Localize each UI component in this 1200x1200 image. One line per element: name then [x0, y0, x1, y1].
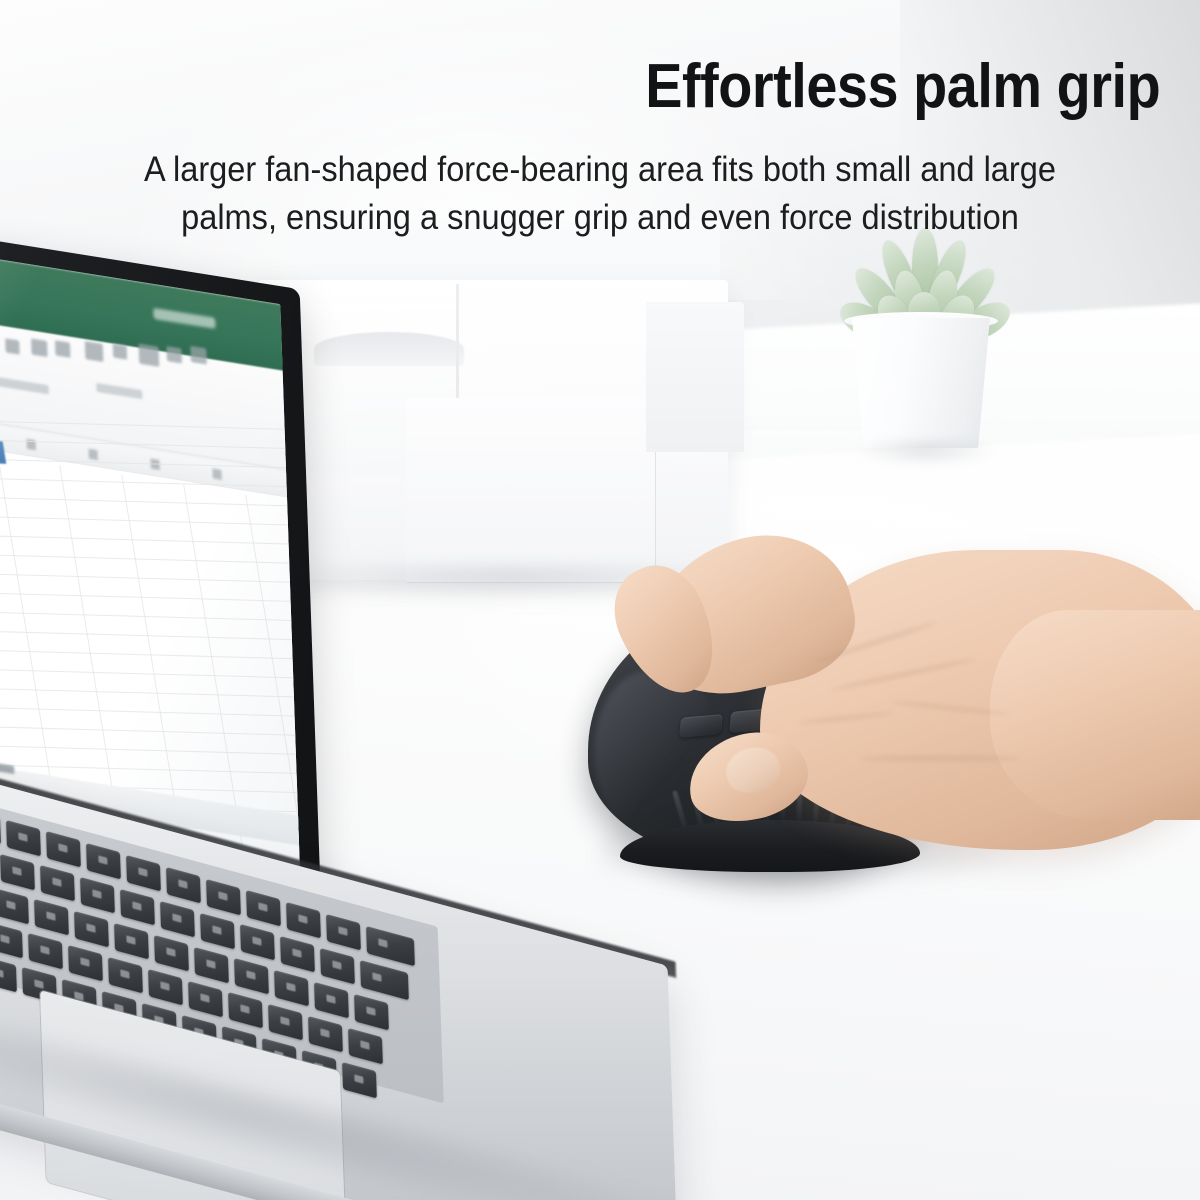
key-glyph — [252, 937, 261, 947]
column-letter-5 — [89, 449, 98, 460]
subtitle: A larger fan-shaped force-bearing area f… — [42, 146, 1158, 243]
subtitle-line-2: palms, ensuring a snugger grip and even … — [68, 194, 1132, 242]
key-glyph — [258, 903, 267, 913]
ribbon-icon-9 — [5, 338, 19, 354]
ribbon-icon-11 — [55, 340, 71, 357]
key-glyph — [218, 891, 227, 901]
key-glyph — [360, 1040, 369, 1050]
hand-crease-3 — [860, 756, 1020, 761]
key-glyph — [326, 994, 335, 1004]
key-glyph — [86, 924, 95, 934]
key-glyph — [286, 983, 295, 993]
page-title: Effortless palm grip — [645, 56, 1160, 118]
key-glyph — [120, 969, 129, 979]
key-glyph — [6, 900, 15, 910]
mouse-side-button-back[interactable] — [679, 714, 723, 738]
key-glyph — [372, 972, 381, 982]
key-glyph — [132, 901, 141, 911]
succulent-plant — [800, 208, 1040, 508]
column-letter-7 — [212, 468, 221, 479]
key-glyph — [338, 926, 347, 936]
key-glyph — [246, 971, 255, 981]
key-glyph — [178, 879, 187, 889]
key-glyph — [212, 925, 221, 935]
key-glyph — [138, 867, 147, 877]
key-glyph — [92, 890, 101, 900]
key-glyph — [98, 856, 107, 866]
key-glyph — [80, 958, 89, 968]
key-glyph — [172, 913, 181, 923]
key-glyph — [126, 935, 135, 945]
key-glyph — [166, 947, 175, 957]
organizer-right-compartment — [646, 302, 744, 452]
key-glyph — [34, 980, 43, 990]
wrist — [990, 610, 1200, 820]
key-glyph — [280, 1017, 289, 1027]
key-glyph — [200, 993, 209, 1003]
plant-shadow — [854, 440, 999, 466]
key-glyph — [12, 866, 21, 876]
key-glyph — [292, 949, 301, 959]
key-glyph — [160, 981, 169, 991]
key-glyph — [40, 946, 49, 956]
key-glyph — [18, 832, 27, 842]
key-glyph — [320, 1028, 329, 1038]
key-glyph — [58, 844, 67, 854]
ribbon-icon-15 — [166, 346, 182, 363]
key-glyph — [240, 1005, 249, 1015]
key-glyph — [0, 968, 4, 978]
key-glyph — [0, 934, 9, 944]
hand-gripping-mouse — [560, 520, 1200, 940]
plant-pot — [846, 318, 996, 448]
laptop — [0, 200, 640, 1200]
ribbon-icon-12 — [85, 341, 104, 362]
product-banner: Effortless palm grip A larger fan-shaped… — [0, 0, 1200, 1200]
key-glyph — [46, 912, 55, 922]
key-glyph — [366, 1006, 375, 1016]
key-glyph — [298, 915, 307, 925]
subtitle-line-1: A larger fan-shaped force-bearing area f… — [68, 146, 1132, 194]
key-glyph — [52, 878, 61, 888]
ribbon-icon-10 — [31, 338, 48, 357]
key-glyph — [378, 938, 387, 948]
ribbon-icon-13 — [113, 343, 127, 359]
ribbon-icon-14 — [139, 344, 160, 367]
ribbon-icon-16 — [190, 346, 207, 365]
key-glyph — [332, 960, 341, 970]
key-glyph — [206, 959, 215, 969]
key-glyph — [354, 1074, 363, 1084]
